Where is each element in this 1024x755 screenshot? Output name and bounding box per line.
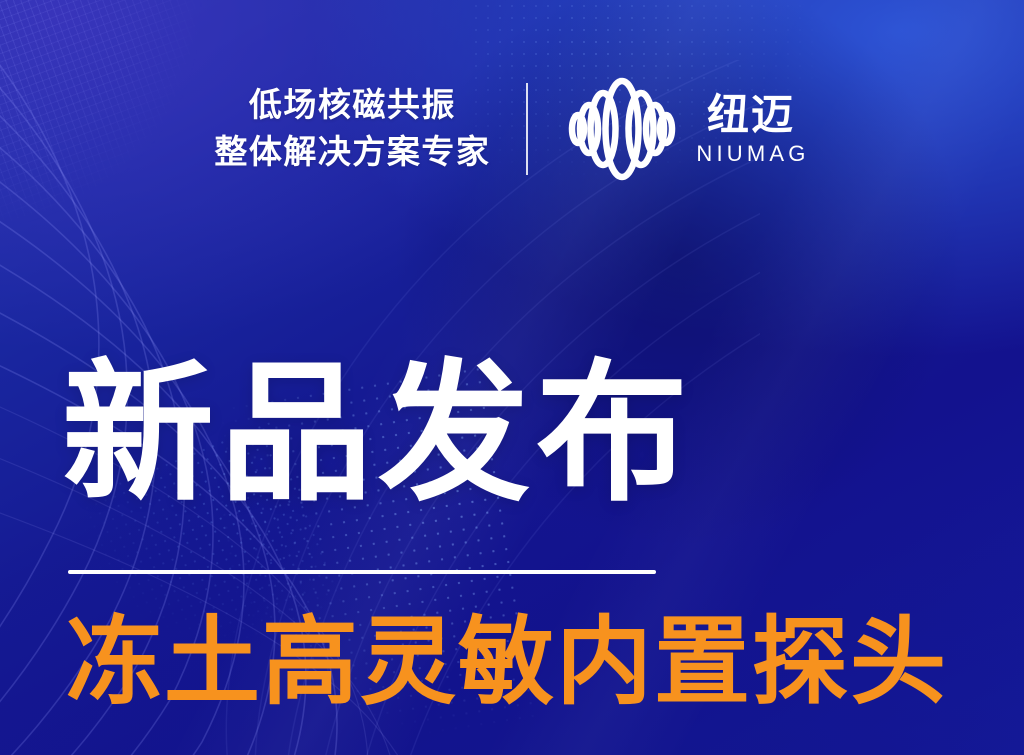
- product-subtitle: 冻土高灵敏内置探头: [66, 613, 948, 714]
- brand-logo: 纽迈 NIUMAG: [528, 76, 809, 182]
- poster-canvas: 低场核磁共振 整体解决方案专家 纽迈 NIUMAG: [0, 0, 1024, 755]
- brand-name-cn: 纽迈: [707, 94, 795, 136]
- niumag-waveform-logo-icon: [568, 76, 676, 182]
- title-divider-rule: [68, 570, 656, 574]
- brand-wordmark: 纽迈 NIUMAG: [692, 94, 809, 165]
- tagline-line-2: 整体解决方案专家: [214, 129, 490, 176]
- brand-name-en: NIUMAG: [692, 143, 809, 165]
- tagline-block: 低场核磁共振 整体解决方案专家: [214, 82, 526, 176]
- tagline-line-1: 低场核磁共振: [214, 82, 490, 129]
- poster-header: 低场核磁共振 整体解决方案专家 纽迈 NIUMAG: [0, 76, 1024, 182]
- page-title: 新品发布: [62, 352, 694, 516]
